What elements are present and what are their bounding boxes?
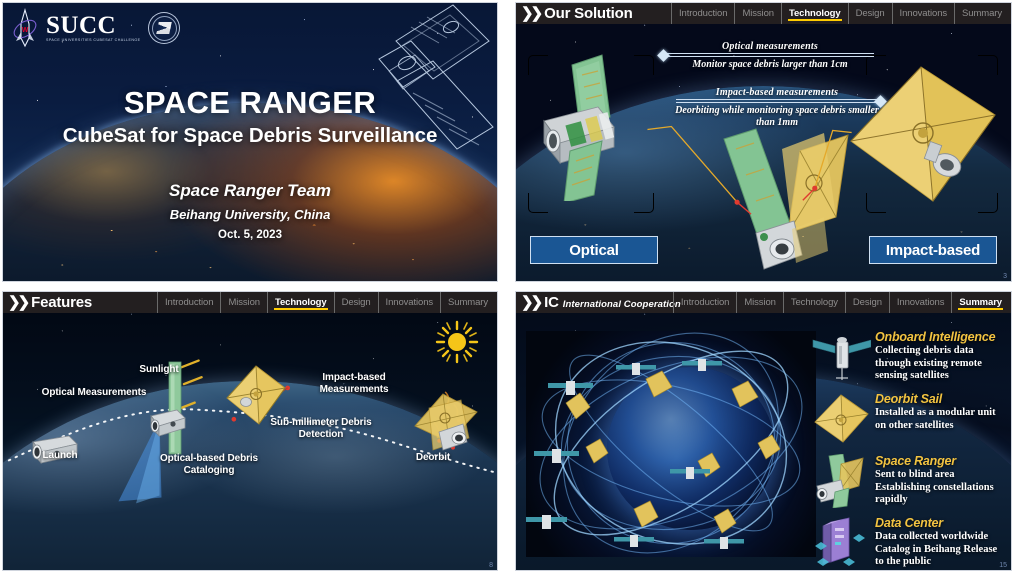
server-icon [811, 516, 871, 570]
slide-international-cooperation[interactable]: ❯❯ IC International Cooperation Introduc… [515, 291, 1012, 571]
succ-logo: W SUCC Space Universities CubeSat Challe… [12, 8, 180, 48]
slide-header: ❯❯ Our Solution [516, 5, 633, 22]
nav-item-technology[interactable]: Technology [267, 292, 334, 313]
ic-heading-onboard-intelligence: Onboard Intelligence [875, 330, 1007, 344]
slide-cell-international-cooperation[interactable]: ❯❯ IC International Cooperation Introduc… [507, 286, 1014, 573]
team-organization: Beihang University, China [3, 207, 497, 222]
succ-tagline: Space Universities CubeSat Challenge [46, 38, 140, 42]
slide-title-text: IC [544, 294, 559, 311]
callout-optical-body: Monitor space debris larger than 1cm [664, 59, 876, 71]
ic-body-deorbit-sail: Installed as a modular unit on other sat… [875, 407, 1007, 431]
team-block: Space Ranger Team Beihang University, Ch… [3, 181, 497, 241]
nav-item-summary[interactable]: Summary [951, 292, 1009, 313]
nav-item-summary[interactable]: Summary [954, 3, 1009, 24]
nav-item-design[interactable]: Design [848, 3, 892, 24]
sub-title: CubeSat for Space Debris Surveillance [3, 124, 497, 148]
slide-header: ❯❯ IC International Cooperation [516, 294, 681, 311]
succ-brand-text: SUCC [46, 14, 140, 38]
sun-icon [435, 320, 479, 364]
ic-body-space-ranger: Sent to blind area Establishing constell… [875, 469, 1007, 506]
sail-icon [811, 392, 871, 446]
nav-item-design[interactable]: Design [845, 292, 889, 313]
slide-title-text: Our Solution [544, 5, 632, 22]
rocket-logo-icon: W [12, 8, 38, 48]
slide-cell-title[interactable]: W SUCC Space Universities CubeSat Challe… [0, 0, 507, 286]
slide-grid: W SUCC Space Universities CubeSat Challe… [0, 0, 1014, 573]
nav-item-technology[interactable]: Technology [783, 292, 845, 313]
tag-impact-based[interactable]: Impact-based [869, 236, 997, 264]
slide-header: ❯❯ Features [3, 294, 92, 311]
page-number: 8 [489, 562, 493, 569]
label-sunlight: Sunlight [121, 364, 197, 376]
slide-topbar: ❯❯ Our Solution Introduction Mission Tec… [516, 3, 1011, 24]
slide-cell-our-solution[interactable]: ❯❯ Our Solution Introduction Mission Tec… [507, 0, 1014, 286]
nav-item-introduction[interactable]: Introduction [673, 292, 736, 313]
nav-item-introduction[interactable]: Introduction [671, 3, 734, 24]
label-impact-based-measurements: Impact-based Measurements [293, 372, 415, 395]
ic-item-deorbit-sail: Deorbit Sail Installed as a modular unit… [807, 392, 1007, 448]
ic-item-data-center: Data Center Data collected worldwide Cat… [807, 516, 1007, 571]
chevron-double-right-icon: ❯❯ [521, 295, 540, 310]
label-optical-debris-cataloging: Optical-based Debris Cataloging [151, 453, 267, 476]
nav-item-innovations[interactable]: Innovations [892, 3, 955, 24]
svg-text:W: W [22, 27, 29, 34]
slide-topbar: ❯❯ IC International Cooperation Introduc… [516, 292, 1011, 313]
constellation-globe-image [526, 331, 816, 557]
main-title: SPACE RANGER [3, 87, 497, 120]
slide-features[interactable]: ❯❯ Features Introduction Mission Technol… [2, 291, 498, 571]
callout-optical-heading: Optical measurements [664, 41, 876, 52]
ic-heading-data-center: Data Center [875, 516, 1007, 530]
slide-title-text: Features [31, 294, 92, 311]
nav-item-mission[interactable]: Mission [220, 292, 267, 313]
section-nav[interactable]: Introduction Mission Technology Design I… [157, 292, 495, 313]
label-optical-measurements: Optical Measurements [35, 387, 153, 399]
cubesat-icon [811, 454, 871, 508]
nav-item-technology[interactable]: Technology [781, 3, 848, 24]
chevron-double-right-icon: ❯❯ [8, 295, 27, 310]
slide-title[interactable]: W SUCC Space Universities CubeSat Challe… [2, 2, 498, 282]
ic-body-data-center: Data collected worldwide Catalog in Beih… [875, 531, 1007, 568]
callout-rule [676, 99, 878, 103]
slide-topbar: ❯❯ Features Introduction Mission Technol… [3, 292, 497, 313]
nav-item-introduction[interactable]: Introduction [157, 292, 220, 313]
tag-optical[interactable]: Optical [530, 236, 658, 264]
nav-item-design[interactable]: Design [334, 292, 378, 313]
callout-impact-body: Deorbiting while monitoring space debris… [674, 105, 880, 129]
title-block: SPACE RANGER CubeSat for Space Debris Su… [3, 87, 497, 148]
buaa-seal-icon [148, 12, 180, 44]
nav-item-innovations[interactable]: Innovations [889, 292, 952, 313]
ic-heading-space-ranger: Space Ranger [875, 454, 1007, 468]
nav-item-mission[interactable]: Mission [734, 3, 781, 24]
section-nav[interactable]: Introduction Mission Technology Design I… [671, 3, 1009, 24]
nav-item-mission[interactable]: Mission [736, 292, 783, 313]
callout-impact-based: Impact-based measurements Deorbiting whi… [674, 87, 880, 129]
satellite-icon [811, 330, 871, 384]
label-launch: Launch [25, 450, 95, 462]
slide-cell-features[interactable]: ❯❯ Features Introduction Mission Technol… [0, 286, 507, 573]
page-number: 15 [999, 562, 1007, 569]
section-nav[interactable]: Introduction Mission Technology Design I… [673, 292, 1009, 313]
ic-body-onboard-intelligence: Collecting debris data through existing … [875, 345, 1007, 382]
nav-item-innovations[interactable]: Innovations [378, 292, 441, 313]
chevron-double-right-icon: ❯❯ [521, 6, 540, 21]
label-sub-millimeter-debris-detection: Sub-millimeter Debris Detection [259, 417, 383, 440]
slide-our-solution[interactable]: ❯❯ Our Solution Introduction Mission Tec… [515, 2, 1012, 282]
ic-item-space-ranger: Space Ranger Sent to blind area Establis… [807, 454, 1007, 510]
page-number: 3 [1003, 273, 1007, 280]
callout-impact-heading: Impact-based measurements [674, 87, 880, 98]
label-deorbit: Deorbit [395, 452, 471, 464]
ic-heading-deorbit-sail: Deorbit Sail [875, 392, 1007, 406]
team-name: Space Ranger Team [3, 181, 497, 201]
presentation-date: Oct. 5, 2023 [3, 229, 497, 241]
ic-item-onboard-intelligence: Onboard Intelligence Collecting debris d… [807, 330, 1007, 386]
cooperation-items-list: Onboard Intelligence Collecting debris d… [807, 330, 1007, 571]
callout-optical: Optical measurements Monitor space debri… [664, 41, 876, 71]
callout-rule [666, 53, 874, 57]
nav-item-summary[interactable]: Summary [440, 292, 495, 313]
slide-subtitle-text: International Cooperation [563, 299, 681, 310]
